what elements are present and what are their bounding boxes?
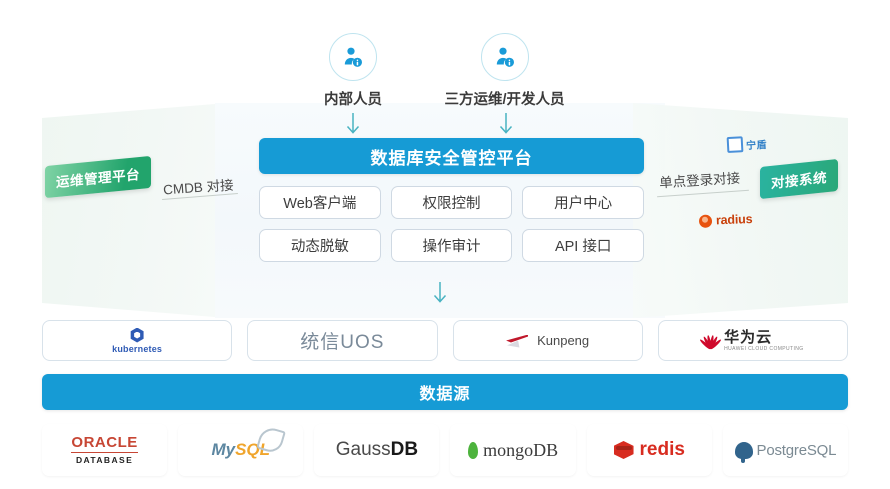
db-label: redis [640,439,685,461]
ningdun-square-icon [727,136,744,153]
ningdun-label: 宁盾 [746,135,768,151]
postgresql-logo: PostgreSQL [735,442,837,459]
module-pill[interactable]: API 接口 [522,229,644,262]
module-pill[interactable]: 权限控制 [391,186,513,219]
actors-row: 内部人员 三方运维/开发人员 [0,33,890,105]
huawei-flower-icon [702,333,719,349]
kunpeng-logo-icon [506,334,530,348]
actor-label: 三方运维/开发人员 [432,88,577,109]
db-card-mongodb[interactable]: mongoDB [450,424,575,476]
actor-third-party-staff: 三方运维/开发人员 [432,33,577,109]
actor-internal-staff: 内部人员 [288,33,418,109]
infrastructure-row: kubernetes 统信UOS Kunpeng 华为云 [42,320,848,361]
infra-label: Kunpeng [537,333,589,348]
datasource-banner: 数据源 [42,374,848,410]
mongodb-leaf-icon [468,442,478,459]
databases-row: ORACLE DATABASE MySQL GaussDB mongoDB re… [42,424,848,476]
db-card-mysql[interactable]: MySQL [178,424,303,476]
infra-card-kubernetes[interactable]: kubernetes [42,320,232,361]
radius-mark-icon [699,214,712,227]
kubernetes-logo-icon [130,328,145,343]
db-sublabel: DATABASE [76,456,133,465]
user-badge-icon [481,33,529,81]
radius-logo: radius [699,212,753,228]
redis-cube-icon [614,441,634,459]
arrow-down-icon [496,112,516,138]
infra-label: 华为云 [724,330,772,345]
radius-label: radius [716,212,753,227]
module-pill[interactable]: 用户中心 [522,186,644,219]
db-label: PostgreSQL [757,442,837,459]
mongodb-logo: mongoDB [468,440,558,461]
db-card-gaussdb[interactable]: GaussDB [314,424,439,476]
infra-card-kunpeng[interactable]: Kunpeng [453,320,643,361]
arrow-down-icon [343,112,363,138]
postgresql-elephant-icon [735,442,753,459]
infra-card-uos[interactable]: 统信UOS [247,320,437,361]
db-label: DB [391,439,418,460]
gaussdb-logo: GaussDB [336,439,418,461]
actor-label: 内部人员 [288,88,418,109]
left-wall-panel [42,103,227,318]
db-card-postgresql[interactable]: PostgreSQL [723,424,848,476]
platform-modules: Web客户端 权限控制 用户中心 动态脱敏 操作审计 API 接口 [259,186,644,262]
db-label: mongoDB [483,440,558,461]
module-pill[interactable]: 动态脱敏 [259,229,381,262]
module-pill[interactable]: Web客户端 [259,186,381,219]
mysql-logo: MySQL [211,440,270,460]
infra-label: 统信UOS [300,327,384,354]
user-badge-icon [329,33,377,81]
module-pill[interactable]: 操作审计 [391,229,513,262]
db-label: ORACLE [71,435,137,453]
redis-logo: redis [614,439,685,461]
db-label: My [211,440,235,460]
infra-card-huawei-cloud[interactable]: 华为云 HUAWEI CLOUD COMPUTING [658,320,848,361]
db-card-redis[interactable]: redis [587,424,712,476]
infra-sublabel: HUAWEI CLOUD COMPUTING [724,347,803,352]
db-card-oracle[interactable]: ORACLE DATABASE [42,424,167,476]
arrow-down-icon [430,281,450,307]
architecture-diagram: 内部人员 三方运维/开发人员 CMDB 对接 运维管理平台 单点 [0,0,890,489]
ningdun-logo: 宁盾 [727,135,768,153]
oracle-logo: ORACLE DATABASE [71,435,137,465]
infra-label: kubernetes [112,344,162,354]
platform-card: 数据库安全管控平台 Web客户端 权限控制 用户中心 动态脱敏 操作审计 API… [259,138,644,262]
platform-title: 数据库安全管控平台 [259,138,644,174]
right-wall-panel [633,103,848,318]
